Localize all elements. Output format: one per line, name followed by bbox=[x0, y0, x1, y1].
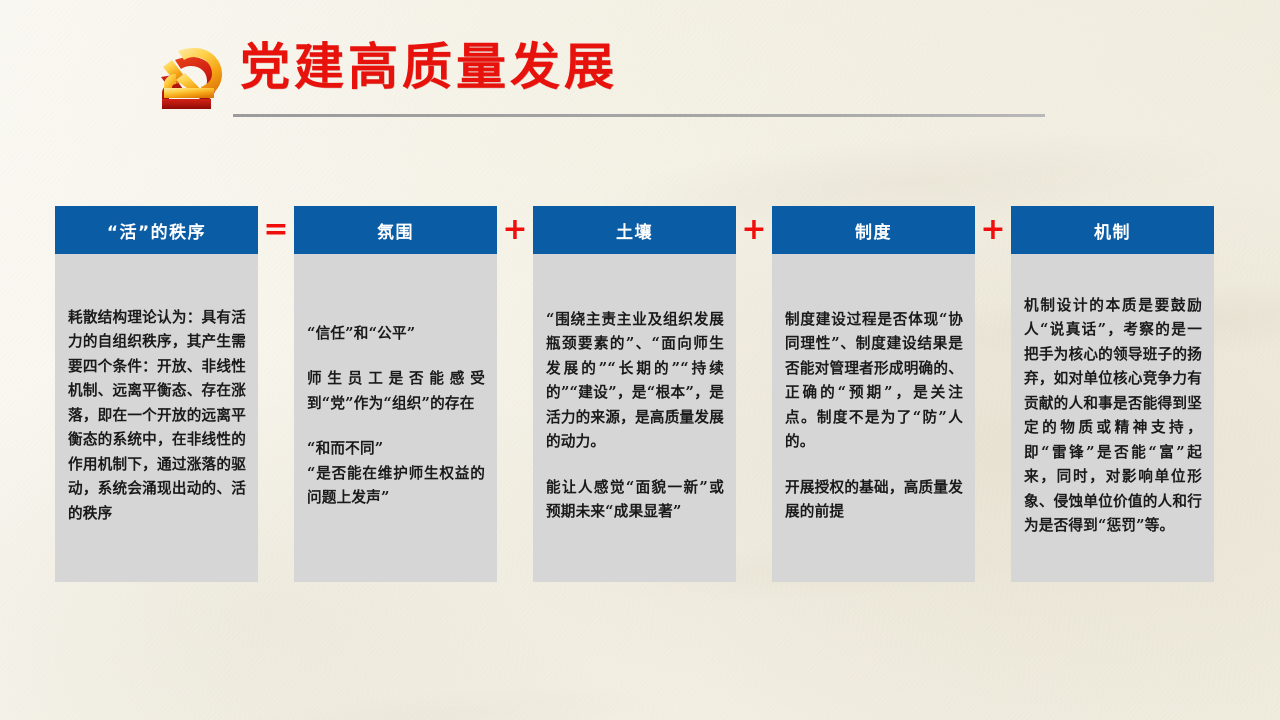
card-1-paragraph-1: 耗散结构理论认为：具有活力的自组织秩序，其产生需要四个条件：开放、非线性机制、远… bbox=[68, 306, 246, 527]
card-4-header: 制度 bbox=[772, 206, 975, 254]
card-2-paragraph-2: 师生员工是否能感受到“党”作为“组织”的存在 bbox=[307, 367, 485, 416]
slide-header: 党建高质量发展 bbox=[0, 0, 1280, 140]
card-2-body: “信任”和“公平” 师生员工是否能感受到“党”作为“组织”的存在 “和而不同” … bbox=[294, 254, 497, 582]
plus-sign-3-glyph: + bbox=[980, 215, 1005, 245]
equals-sign-glyph: = bbox=[263, 215, 288, 245]
card-4-title: 制度 bbox=[855, 218, 892, 243]
page-title: 党建高质量发展 bbox=[240, 36, 618, 98]
card-1-title: “活”的秩序 bbox=[107, 218, 206, 243]
card-2-paragraph-3: “和而不同” “是否能在维护师生权益的问题上发声” bbox=[307, 437, 485, 511]
party-emblem-hammer-sickle-icon bbox=[152, 42, 236, 112]
concept-cards-row: “活”的秩序 耗散结构理论认为：具有活力的自组织秩序，其产生需要四个条件：开放、… bbox=[55, 206, 1215, 582]
plus-sign-2: + bbox=[736, 206, 772, 254]
card-3-title: 土壤 bbox=[616, 218, 653, 243]
card-1-body: 耗散结构理论认为：具有活力的自组织秩序，其产生需要四个条件：开放、非线性机制、远… bbox=[55, 254, 258, 582]
concept-card-4[interactable]: 制度 制度建设过程是否体现“协同理性”、制度建设结果是否能对管理者形成明确的、正… bbox=[772, 206, 975, 582]
card-2-title: 氛围 bbox=[377, 218, 414, 243]
plus-sign-3: + bbox=[975, 206, 1011, 254]
plus-sign-1-glyph: + bbox=[502, 215, 527, 245]
concept-card-1[interactable]: “活”的秩序 耗散结构理论认为：具有活力的自组织秩序，其产生需要四个条件：开放、… bbox=[55, 206, 258, 582]
equals-sign: = bbox=[258, 206, 294, 254]
plus-sign-2-glyph: + bbox=[741, 215, 766, 245]
card-5-header: 机制 bbox=[1011, 206, 1214, 254]
card-3-header: 土壤 bbox=[533, 206, 736, 254]
card-5-title: 机制 bbox=[1094, 218, 1131, 243]
concept-card-5[interactable]: 机制 机制设计的本质是要鼓励人“说真话”，考察的是一把手为核心的领导班子的扬弃，… bbox=[1011, 206, 1214, 582]
concept-card-3[interactable]: 土壤 “围绕主责主业及组织发展瓶颈要素的”、“面向师生发展的”“长期的”“持续的… bbox=[533, 206, 736, 582]
card-4-body: 制度建设过程是否体现“协同理性”、制度建设结果是否能对管理者形成明确的、正确的“… bbox=[772, 254, 975, 582]
card-3-paragraph-1: “围绕主责主业及组织发展瓶颈要素的”、“面向师生发展的”“长期的”“持续的”“建… bbox=[546, 308, 724, 455]
slide-canvas: 党建高质量发展 “活”的秩序 耗散结构理论认为：具有活力的自组织秩序，其产生需要… bbox=[0, 0, 1280, 720]
card-5-paragraph-1: 机制设计的本质是要鼓励人“说真话”，考察的是一把手为核心的领导班子的扬弃，如对单… bbox=[1024, 294, 1202, 539]
card-3-body: “围绕主责主业及组织发展瓶颈要素的”、“面向师生发展的”“长期的”“持续的”“建… bbox=[533, 254, 736, 582]
card-2-header: 氛围 bbox=[294, 206, 497, 254]
card-5-body: 机制设计的本质是要鼓励人“说真话”，考察的是一把手为核心的领导班子的扬弃，如对单… bbox=[1011, 254, 1214, 582]
card-1-header: “活”的秩序 bbox=[55, 206, 258, 254]
card-4-paragraph-2: 开展授权的基础，高质量发展的前提 bbox=[785, 476, 963, 525]
title-underline-rule bbox=[233, 114, 1045, 117]
card-2-paragraph-1: “信任”和“公平” bbox=[307, 322, 485, 347]
card-3-paragraph-2: 能让人感觉“面貌一新”或预期未来“成果显著” bbox=[546, 476, 724, 525]
concept-card-2[interactable]: 氛围 “信任”和“公平” 师生员工是否能感受到“党”作为“组织”的存在 “和而不… bbox=[294, 206, 497, 582]
plus-sign-1: + bbox=[497, 206, 533, 254]
card-4-paragraph-1: 制度建设过程是否体现“协同理性”、制度建设结果是否能对管理者形成明确的、正确的“… bbox=[785, 308, 963, 455]
